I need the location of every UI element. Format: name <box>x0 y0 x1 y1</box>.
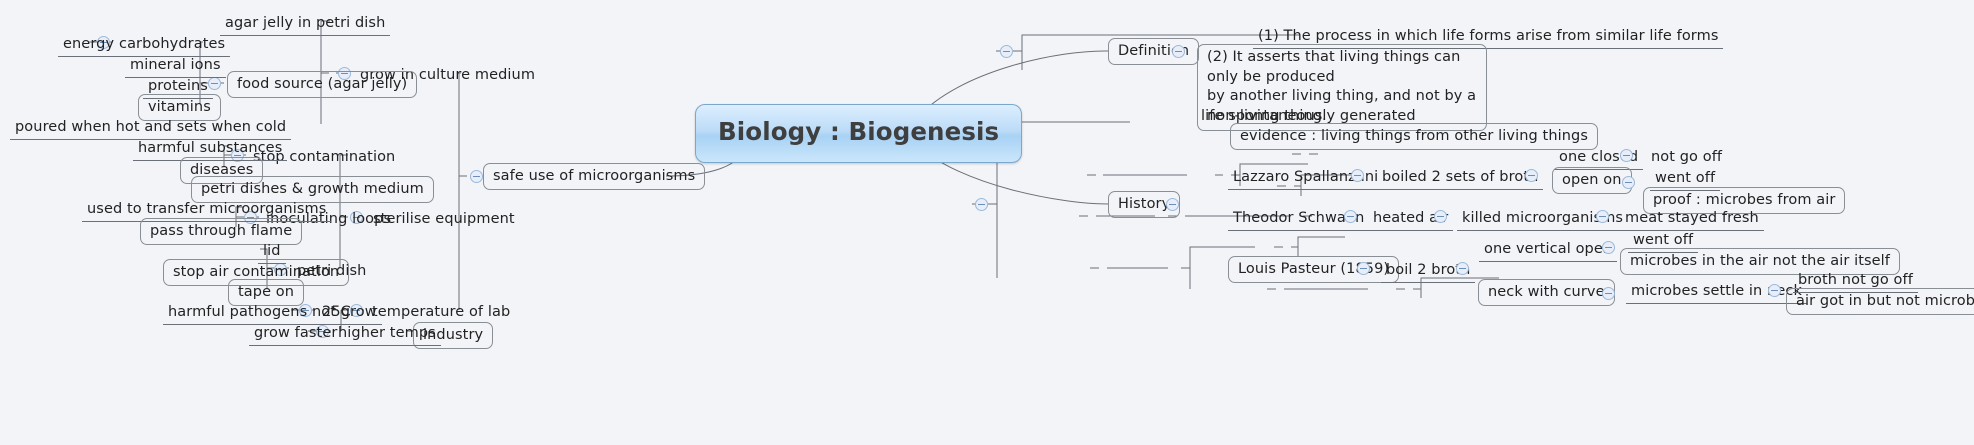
topic-definition[interactable]: Definition <box>1108 38 1199 65</box>
collapse-toggle-killed-micro[interactable] <box>1596 210 1609 223</box>
collapse-toggle-definition-children[interactable] <box>1172 45 1185 58</box>
collapse-toggle-pasteur[interactable] <box>1357 262 1370 275</box>
topic-temperature-of-lab[interactable]: temperature of lab <box>367 301 515 324</box>
topic-one-vertical-open[interactable]: one vertical open <box>1479 238 1617 262</box>
topic-air-got-in[interactable]: air got in but not microbes <box>1786 288 1974 315</box>
collapse-toggle-heated-air[interactable] <box>1434 210 1447 223</box>
topic-meat-stayed-fresh[interactable]: meat stayed fresh <box>1620 207 1764 231</box>
central-topic[interactable]: Biology : Biogenesis <box>695 104 1022 163</box>
topic-louis-pasteur[interactable]: Louis Pasteur (1859) <box>1228 256 1399 283</box>
topic-higher-temps[interactable]: higher temps <box>333 322 441 346</box>
topic-food-source[interactable]: food source (agar jelly) <box>227 71 417 98</box>
topic-agar-jelly-in-petri-dish[interactable]: agar jelly in petri dish <box>220 12 390 36</box>
collapse-toggle-one-closed[interactable] <box>1620 149 1633 162</box>
collapse-toggle-safe-use[interactable] <box>470 170 483 183</box>
collapse-toggle-history[interactable] <box>975 198 988 211</box>
topic-evidence[interactable]: evidence : living things from other livi… <box>1230 123 1598 150</box>
collapse-toggle-schwann[interactable] <box>1344 210 1357 223</box>
topic-boiled-2-sets-of-broth[interactable]: boiled 2 sets of broth <box>1377 166 1543 190</box>
topic-not-go-off[interactable]: not go off <box>1646 146 1727 169</box>
topic-safe-use-of-microorganisms[interactable]: safe use of microorganisms <box>483 163 705 190</box>
topic-neck-with-curve[interactable]: neck with curve <box>1478 279 1615 306</box>
mindmap-canvas: Biology : Biogenesis Definition (1) The … <box>0 0 1974 445</box>
topic-open-on[interactable]: open on <box>1552 167 1632 194</box>
collapse-toggle-neck-with-curve[interactable] <box>1602 287 1615 300</box>
topic-energy[interactable]: energy <box>58 33 119 57</box>
collapse-toggle-history-children[interactable] <box>1166 198 1179 211</box>
collapse-toggle-definition[interactable] <box>1000 45 1013 58</box>
collapse-toggle-boiled2[interactable] <box>1525 169 1538 182</box>
definition-2-line-1: (2) It asserts that living things can on… <box>1207 48 1477 87</box>
topic-grow-faster[interactable]: grow faster <box>249 322 342 346</box>
collapse-toggle-spallanzani[interactable] <box>1351 169 1364 182</box>
collapse-toggle-one-vertical-open[interactable] <box>1602 241 1615 254</box>
collapse-toggle-microbes-settle[interactable] <box>1768 284 1781 297</box>
collapse-toggle-boil2broth[interactable] <box>1456 262 1469 275</box>
collapse-toggle-open-on[interactable] <box>1622 176 1635 189</box>
